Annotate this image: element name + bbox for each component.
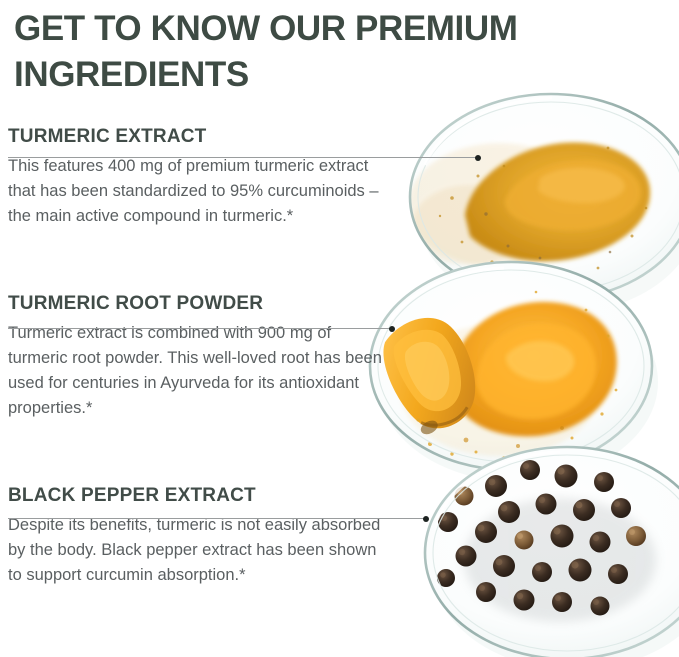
leader-line-turmeric-extract <box>8 157 478 158</box>
ingredient-heading-turmeric-extract: TURMERIC EXTRACT <box>8 126 408 148</box>
ingredient-heading-black-pepper-extract: BLACK PEPPER EXTRACT <box>8 485 408 507</box>
ingredient-body-turmeric-extract: This features 400 mg of premium turmeric… <box>8 154 393 229</box>
ingredient-section-turmeric-extract: TURMERIC EXTRACT This features 400 mg of… <box>8 126 408 229</box>
leader-dot-turmeric-extract <box>475 155 481 161</box>
ingredient-section-turmeric-root-powder: TURMERIC ROOT POWDER Turmeric extract is… <box>8 293 408 421</box>
ingredient-heading-turmeric-root-powder: TURMERIC ROOT POWDER <box>8 293 408 315</box>
leader-line-turmeric-root-powder <box>8 328 392 329</box>
ingredient-body-turmeric-root-powder: Turmeric extract is combined with 900 mg… <box>8 321 393 421</box>
leader-dot-black-pepper-extract <box>423 516 429 522</box>
leader-line-black-pepper-extract <box>8 518 426 519</box>
ingredient-body-black-pepper-extract: Despite its benefits, turmeric is not ea… <box>8 513 393 588</box>
ingredients-infographic: GET TO KNOW OUR PREMIUM INGREDIENTS TURM… <box>0 0 679 657</box>
ingredient-section-black-pepper-extract: BLACK PEPPER EXTRACT Despite its benefit… <box>8 485 408 588</box>
leader-dot-turmeric-root-powder <box>389 326 395 332</box>
page-title: GET TO KNOW OUR PREMIUM INGREDIENTS <box>14 6 654 97</box>
